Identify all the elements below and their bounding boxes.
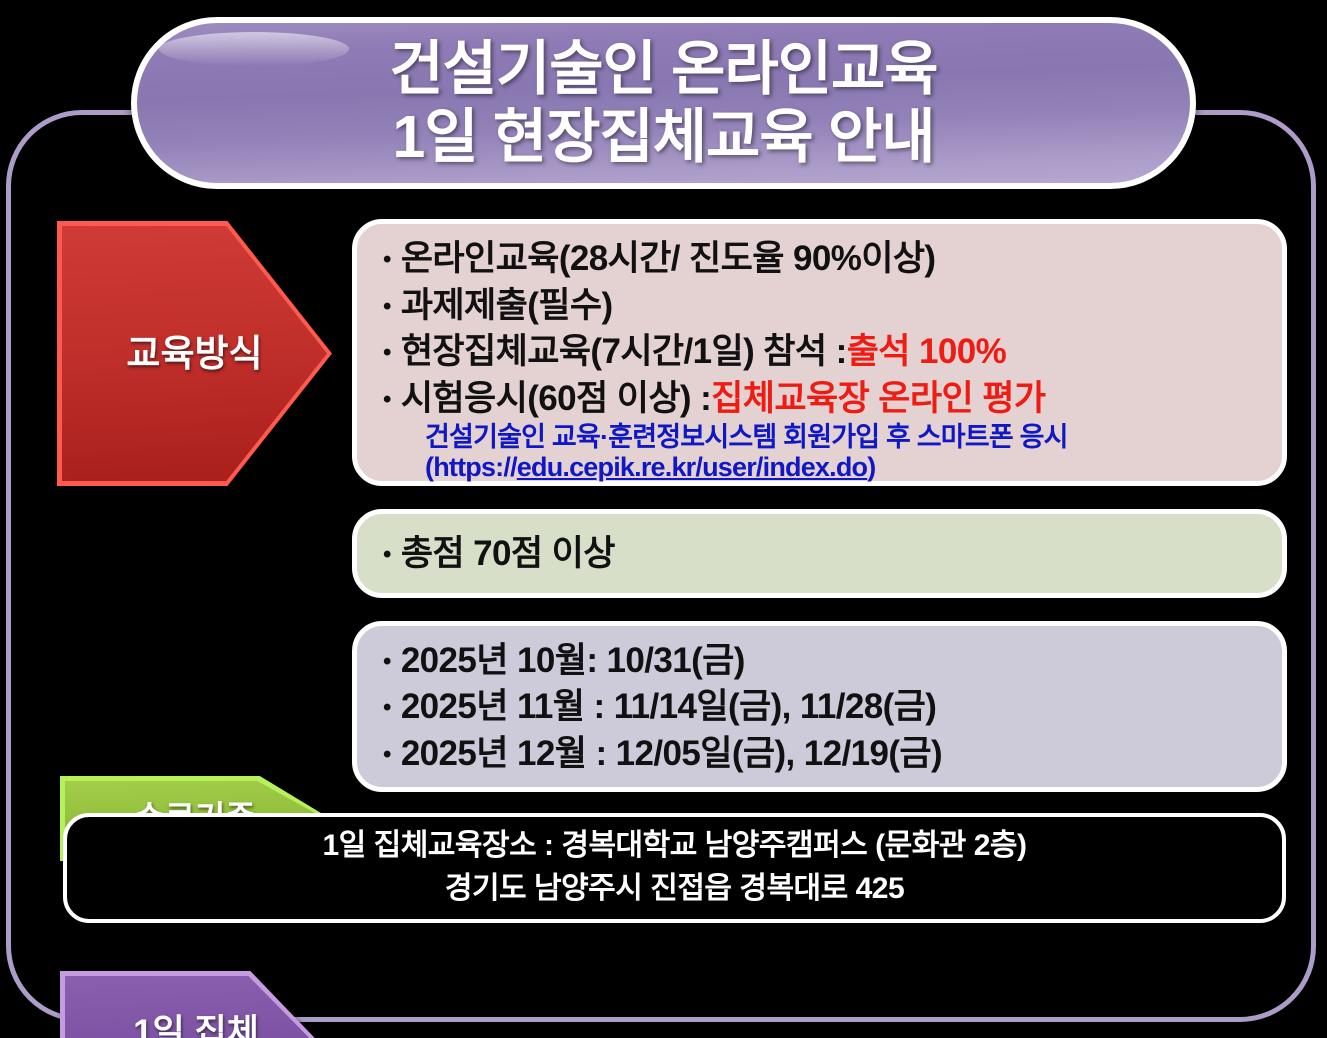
venue-line-2: 경기도 남양주시 진접읍 경복대로 425 <box>445 868 904 911</box>
section-tag-label-line-1: 1일 집체 <box>133 1013 259 1038</box>
bullet-item: • 온라인교육(28시간/ 진도율 90%이상) <box>383 236 1264 283</box>
bullet-dot-icon: • <box>383 341 391 365</box>
bullet-item: • 2025년 12월 : 12/05일(금), 12/19(금) <box>383 731 1264 778</box>
bullet-text: 2025년 11월 : 11/14일(금), 11/28(금) <box>401 684 936 731</box>
bullet-dot-icon: • <box>383 388 391 412</box>
bullet-highlight: 출석 100% <box>847 329 1006 376</box>
panel-training-schedule: • 2025년 10월: 10/31(금) • 2025년 11월 : 11/1… <box>352 621 1287 792</box>
bullet-text: 온라인교육(28시간/ 진도율 90%이상) <box>401 236 936 283</box>
url-suffix: ) <box>867 452 875 482</box>
panel-education-method: • 온라인교육(28시간/ 진도율 90%이상) • 과제제출(필수) • 현장… <box>352 219 1287 486</box>
venue-footer-box: 1일 집체교육장소 : 경복대학교 남양주캠퍼스 (문화관 2층) 경기도 남양… <box>63 813 1286 923</box>
bullet-item: • 시험응시(60점 이상) : 집체교육장 온라인 평가 <box>383 376 1264 423</box>
bullet-text: 2025년 10월: 10/31(금) <box>401 638 745 685</box>
bullet-dot-icon: • <box>383 743 391 767</box>
bullet-dot-icon: • <box>383 696 391 720</box>
title-line-1: 건설기술인 온라인교육 <box>389 35 937 103</box>
bullet-text: 2025년 12월 : 12/05일(금), 12/19(금) <box>401 731 942 778</box>
subnote-block: 건설기술인 교육·훈련정보시스템 회원가입 후 스마트폰 응시 (https:/… <box>383 422 1264 482</box>
venue-line-1: 1일 집체교육장소 : 경복대학교 남양주캠퍼스 (문화관 2층) <box>322 825 1026 868</box>
panel-completion-criteria: • 총점 70점 이상 <box>352 509 1287 598</box>
bullet-text: 과제제출(필수) <box>401 283 613 330</box>
infographic-poster: 건설기술인 온라인교육 1일 현장집체교육 안내 교육방식 • 온라인교육(28… <box>0 0 1327 1038</box>
bullet-item: • 2025년 11월 : 11/14일(금), 11/28(금) <box>383 684 1264 731</box>
bullet-dot-icon: • <box>383 248 391 272</box>
section-tag-label: 1일 집체 교육일정 <box>132 1011 261 1038</box>
section-tag-label: 교육방식 <box>126 330 262 377</box>
bullet-dot-icon: • <box>383 295 391 319</box>
bullet-item: • 총점 70점 이상 <box>383 531 615 578</box>
bullet-text: 총점 70점 이상 <box>401 531 615 578</box>
title-banner: 건설기술인 온라인교육 1일 현장집체교육 안내 <box>131 17 1196 189</box>
bullet-item: • 현장집체교육(7시간/1일) 참석 : 출석 100% <box>383 329 1264 376</box>
section-tag-education-method: 교육방식 <box>57 221 332 486</box>
bullet-item: • 2025년 10월: 10/31(금) <box>383 638 1264 685</box>
bullet-dot-icon: • <box>383 650 391 674</box>
bullet-text: 시험응시(60점 이상) : <box>401 376 711 423</box>
subnote-line: 건설기술인 교육·훈련정보시스템 회원가입 후 스마트폰 응시 <box>425 422 1264 452</box>
subnote-url-line: (https://edu.cepik.re.kr/user/index.do) <box>425 452 1264 482</box>
education-system-link[interactable]: edu.cepik.re.kr/user/index.do <box>517 452 867 482</box>
url-prefix: (https:// <box>425 452 517 482</box>
section-tag-training-schedule: 1일 집체 교육일정 <box>60 971 332 1038</box>
title-line-2: 1일 현장집체교육 안내 <box>392 103 934 171</box>
bullet-dot-icon: • <box>383 543 391 567</box>
bullet-item: • 과제제출(필수) <box>383 283 1264 330</box>
bullet-highlight: 집체교육장 온라인 평가 <box>711 376 1045 423</box>
bullet-text: 현장집체교육(7시간/1일) 참석 : <box>401 329 847 376</box>
